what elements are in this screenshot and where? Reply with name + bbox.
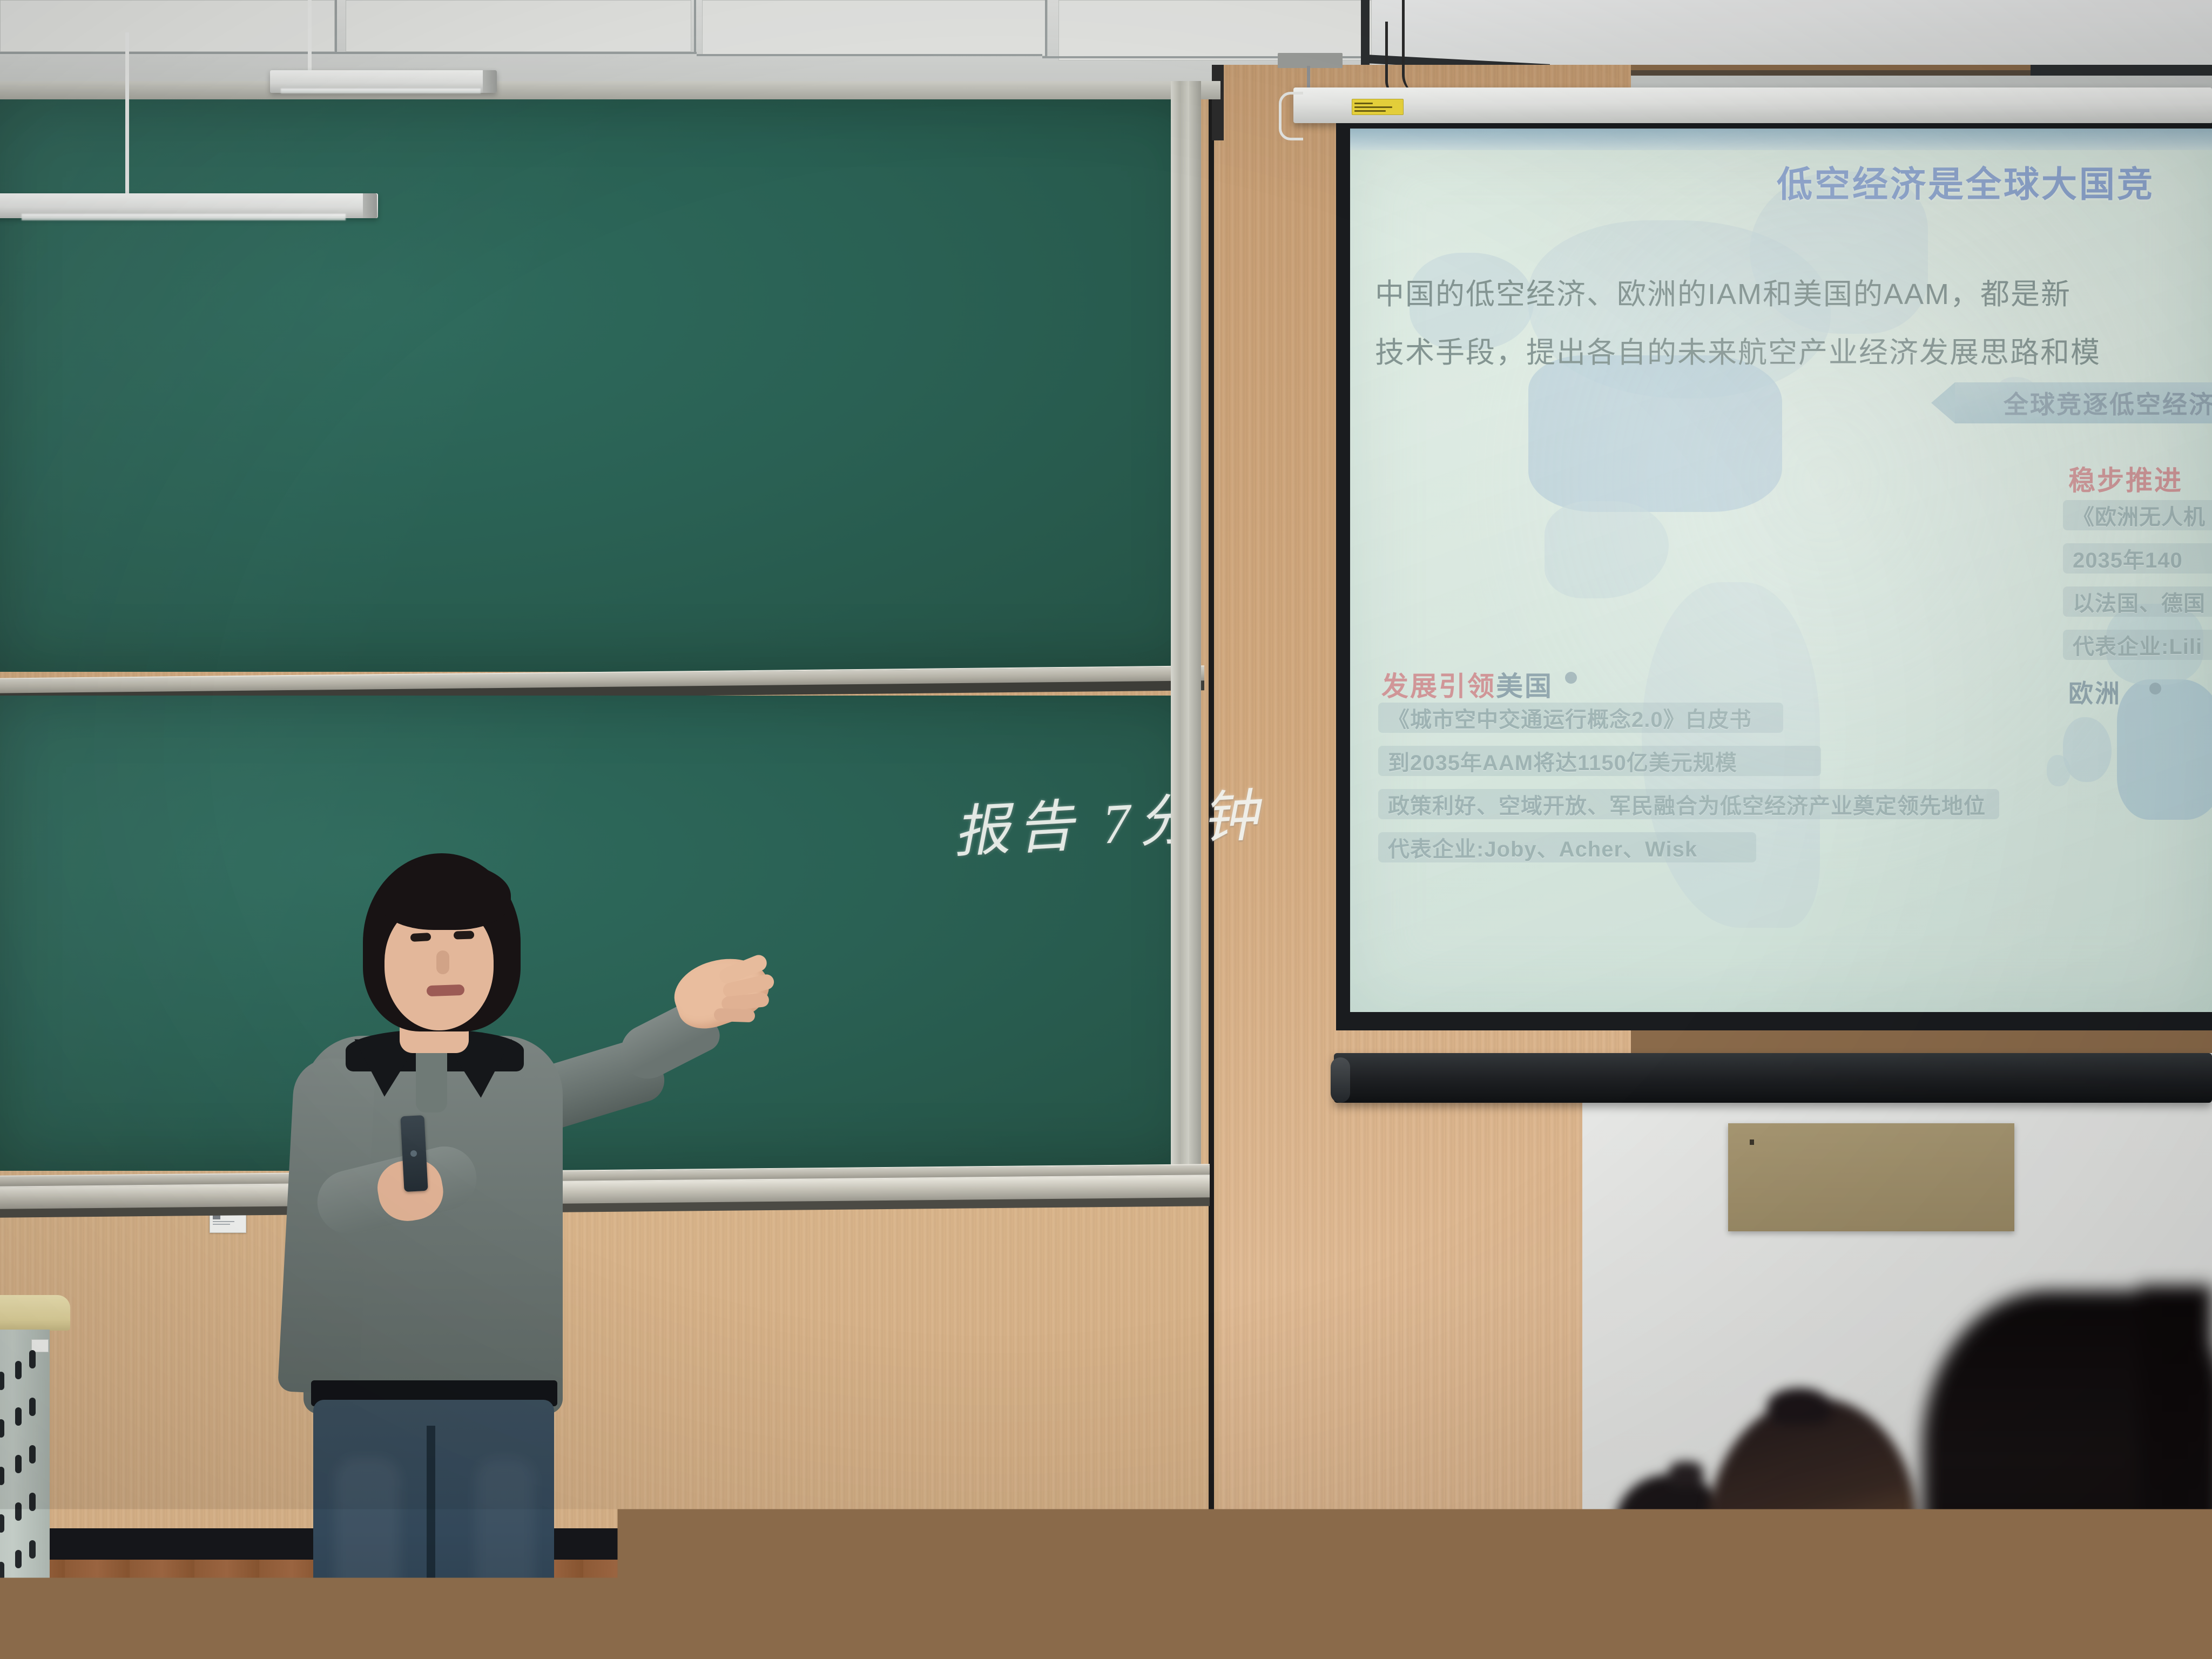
- blackboard-upper: [0, 99, 1199, 672]
- light-glow: [22, 214, 346, 220]
- light-end-cap: [363, 193, 377, 218]
- presenter-eye-left: [410, 933, 431, 942]
- slide-bullet-text: 到2035年AAM将达1150亿美元规模: [1388, 745, 1737, 777]
- slide-ribbon-label: 全球竞逐低空经济: [1955, 385, 2212, 421]
- student-ponytail-crown: [1767, 1388, 1832, 1425]
- projected-slide: 低空经济是全球大国竞 中国的低空经济、欧洲的IAM和美国的AAM，都是新 技术手…: [1350, 129, 2212, 1012]
- ceiling-shadow-gap: [2031, 65, 2212, 77]
- warning-label: [1352, 99, 1404, 115]
- presenter-bangs: [378, 862, 511, 930]
- classroom-photo: 报告 7分钟: [0, 0, 2212, 1659]
- blackboard-frame-right-inner: [1189, 81, 1201, 1193]
- power-cable: [1385, 22, 1406, 97]
- slide-bullet: 2035年140: [2063, 543, 2212, 574]
- ceiling-grid-rail: [1045, 0, 1047, 56]
- screen-bottom-bar: [1334, 1053, 2212, 1103]
- section-marker-dot-usa: [1565, 672, 1577, 684]
- light-end-cap: [483, 70, 497, 93]
- light-glow: [281, 89, 481, 93]
- ceiling-tile: [346, 0, 691, 52]
- ceiling-grid-rail: [697, 54, 1042, 56]
- clicker-button: [410, 1150, 417, 1157]
- slide-bullet: 到2035年AAM将达1150亿美元规模: [1378, 746, 1821, 776]
- blackboard-frame-right: [1171, 81, 1189, 1183]
- screen-pull-loop: [1279, 92, 1303, 140]
- slide-body-line-1: 中国的低空经济、欧洲的IAM和美国的AAM，都是新: [1375, 270, 2071, 313]
- lectern-body: [0, 1330, 50, 1659]
- chalkboard-handwriting: 报告 7分钟: [951, 769, 1267, 868]
- slide-top-band: [1350, 129, 2212, 150]
- section-highlight-europe: 稳步推进: [2068, 466, 2183, 496]
- section-country-usa: 美国: [1496, 671, 1553, 702]
- slide-body-line-2: 技术手段，提出各自的未来航空产业经济发展思路和模: [1375, 328, 2101, 371]
- lectern-top: [0, 1295, 70, 1331]
- ceiling-tile: [1058, 0, 1372, 60]
- region-label-europe: 欧洲: [2068, 674, 2121, 710]
- plaque-screw: [1750, 1139, 1754, 1145]
- slide-bullet-text: 以法国、德国: [2073, 586, 2206, 617]
- presenter-nose: [436, 950, 449, 974]
- slide-bullet-text: 《欧洲无人机: [2073, 500, 2206, 531]
- presenter-jeans-highlight: [475, 1458, 535, 1620]
- presenter-jeans-highlight: [335, 1458, 400, 1620]
- student-foreground-hair-edge: [2139, 1285, 2212, 1659]
- ceiling-grid-rail: [335, 0, 337, 52]
- presenter-mouth: [427, 984, 465, 996]
- section-header-usa: 发展引领美国: [1381, 665, 1553, 704]
- section-highlight-usa: 发展引领: [1381, 671, 1496, 702]
- ceiling-grid-rail: [694, 0, 696, 54]
- slide-bullet-text: 2035年140: [2073, 543, 2183, 574]
- projector-screen-housing: [1293, 87, 2212, 123]
- wall-seam: [1212, 65, 1224, 140]
- light-suspension-rod: [308, 0, 312, 71]
- slide-bullet: 《欧洲无人机: [2063, 500, 2212, 530]
- slide-bullet-text: 政策利好、空域开放、军民融合为低空经济产业奠定领先地位: [1388, 788, 1986, 820]
- slide-bullet: 以法国、德国: [2063, 586, 2212, 617]
- presenter-shirt-placket: [416, 1048, 447, 1112]
- blackboard-frame-top: [0, 81, 1220, 99]
- wall-plaque: [1728, 1123, 2014, 1231]
- slide-bullet-text: 《城市空中交通运行概念2.0》白皮书: [1388, 702, 1752, 733]
- ceiling-right: [1372, 0, 2212, 65]
- presenter-eye-right: [454, 930, 475, 939]
- screen-mount-bracket: [1278, 53, 1343, 68]
- presenter-finger: [714, 1008, 756, 1023]
- section-header-europe: 稳步推进: [2068, 459, 2183, 498]
- student-ponytail-ear: [1717, 1566, 1761, 1615]
- screen-mount-eyebolt: [1307, 66, 1310, 87]
- light-suspension-rod: [125, 32, 129, 194]
- slide-bullet-text: 代表企业:Lili: [2073, 629, 2202, 660]
- slide-bullet: 代表企业:Joby、Acher、Wisk: [1378, 832, 1756, 862]
- slide-bullet: 政策利好、空域开放、军民融合为低空经济产业奠定领先地位: [1378, 789, 1999, 819]
- student-foreground-thumb: [2020, 1582, 2079, 1642]
- screen-bottom-bar-endcap: [1331, 1057, 1350, 1103]
- student-plaid-bun: [1669, 1461, 1703, 1486]
- floor: [0, 1560, 1350, 1659]
- ceiling-tile: [0, 0, 335, 52]
- blackboard-sheen: [0, 99, 1199, 672]
- slide-bullet-text: 代表企业:Joby、Acher、Wisk: [1388, 832, 1697, 863]
- ceiling-tile: [702, 0, 1048, 56]
- section-marker-dot-europe: [2149, 683, 2161, 694]
- presenter-jeans-inseam: [427, 1426, 435, 1658]
- slide-ribbon-banner: 全球竞逐低空经济: [1955, 382, 2212, 423]
- ceiling-grid-rail: [0, 52, 697, 54]
- slide-title: 低空经济是全球大国竞: [1777, 156, 2155, 207]
- slide-bullet: 《城市空中交通运行概念2.0》白皮书: [1378, 703, 1783, 733]
- slide-bullet: 代表企业:Lili: [2063, 630, 2212, 660]
- wall-baseboard: [0, 1528, 1334, 1560]
